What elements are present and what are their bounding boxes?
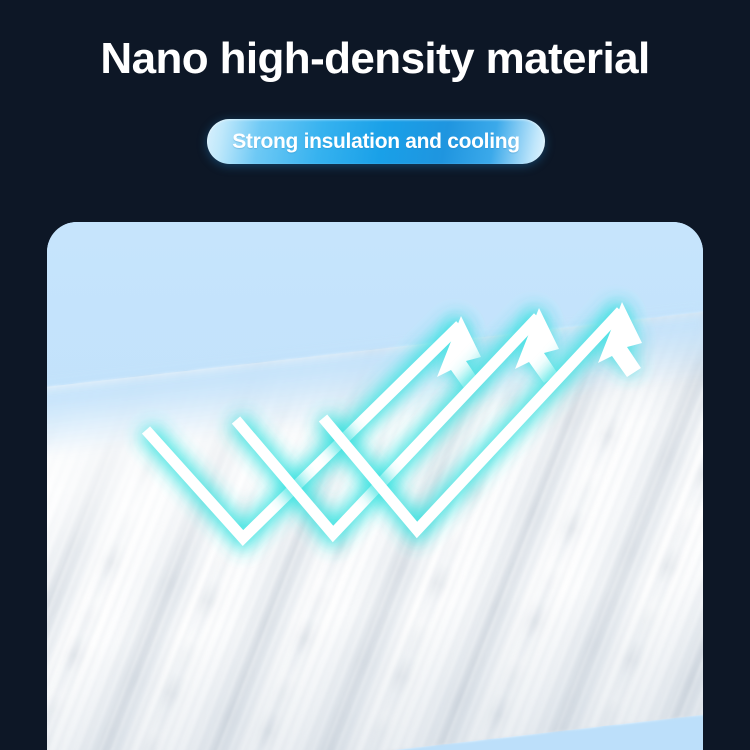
page-title: Nano high-density material	[0, 30, 750, 88]
airflow-arrows-group	[47, 222, 703, 750]
product-image-card	[47, 222, 703, 750]
feature-badge-label: Strong insulation and cooling	[232, 130, 520, 154]
promo-banner: Nano high-density material Strong insula…	[0, 0, 750, 750]
feature-badge: Strong insulation and cooling	[207, 119, 545, 164]
